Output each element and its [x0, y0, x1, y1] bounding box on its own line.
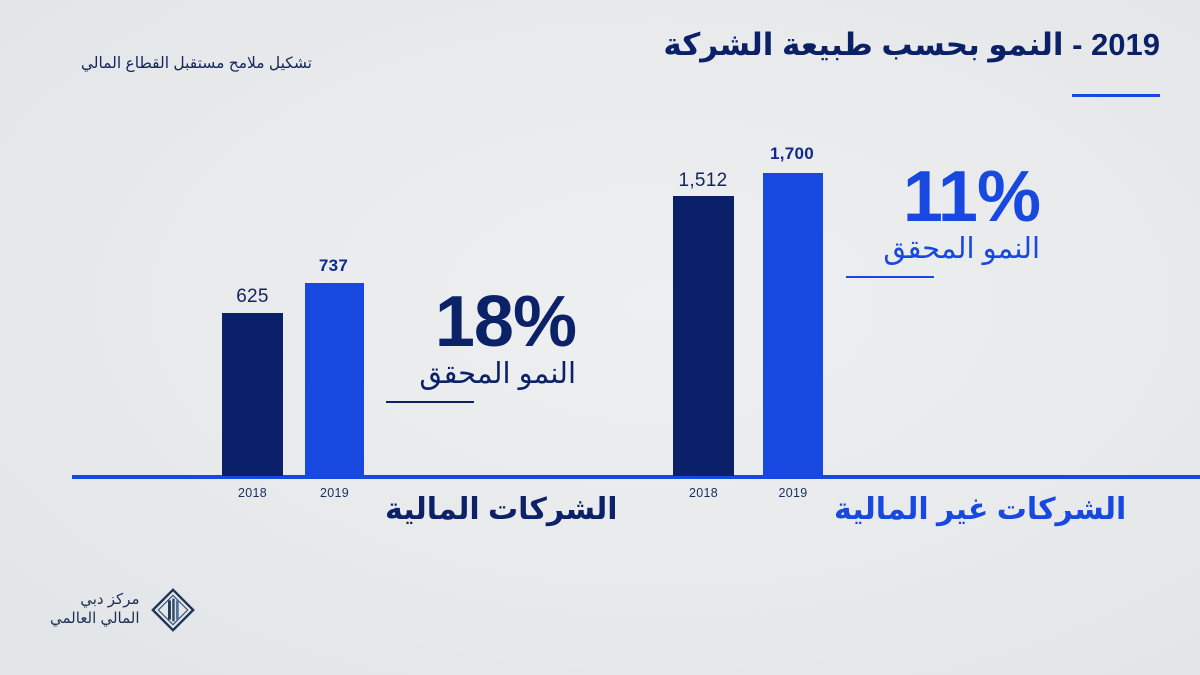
- growth-callout-underline-financial: [386, 401, 474, 403]
- axis-label-non-financial-2019: 2019: [763, 486, 823, 500]
- bar-non-financial-2018: [673, 196, 734, 476]
- growth-callout-non-financial: 11% النمو المحقق: [840, 163, 1040, 278]
- growth-caption-financial: النمو المحقق: [380, 358, 576, 391]
- difc-logo: مركز دبي المالي العالمي: [50, 588, 195, 632]
- tagline: تشكيل ملامح مستقبل القطاع المالي: [52, 54, 312, 74]
- growth-caption-non-financial: النمو المحقق: [840, 233, 1040, 266]
- bar-value-financial-2018: 625: [222, 286, 283, 308]
- bar-non-financial-2019: [763, 173, 823, 476]
- axis-label-non-financial-2018: 2018: [673, 486, 734, 500]
- axis-label-financial-2019: 2019: [305, 486, 364, 500]
- growth-callout-financial: 18% النمو المحقق: [380, 288, 576, 403]
- difc-wordmark: مركز دبي المالي العالمي: [50, 591, 140, 629]
- difc-wordmark-line1: مركز دبي: [80, 591, 139, 608]
- bar-financial-2018: [222, 313, 283, 476]
- infographic-slide: تشكيل ملامح مستقبل القطاع المالي 2019 - …: [0, 0, 1200, 675]
- axis-label-financial-2018: 2018: [222, 486, 283, 500]
- bar-financial-2019: [305, 283, 364, 476]
- difc-diamond-icon: [151, 588, 195, 632]
- growth-percentage-non-financial: 11%: [840, 163, 1040, 231]
- growth-callout-underline-non-financial: [846, 276, 934, 278]
- group-label-financial: الشركات المالية: [385, 492, 618, 527]
- growth-percentage-financial: 18%: [380, 288, 576, 356]
- bar-value-financial-2019: 737: [303, 256, 364, 276]
- group-label-non-financial: الشركات غير المالية: [834, 492, 1126, 527]
- difc-wordmark-line2: المالي العالمي: [50, 610, 140, 627]
- page-title: 2019 - النمو بحسب طبيعة الشركة: [663, 26, 1160, 65]
- title-underline-accent: [1072, 94, 1160, 97]
- bar-value-non-financial-2018: 1,512: [669, 170, 737, 192]
- bar-value-non-financial-2019: 1,700: [758, 144, 826, 164]
